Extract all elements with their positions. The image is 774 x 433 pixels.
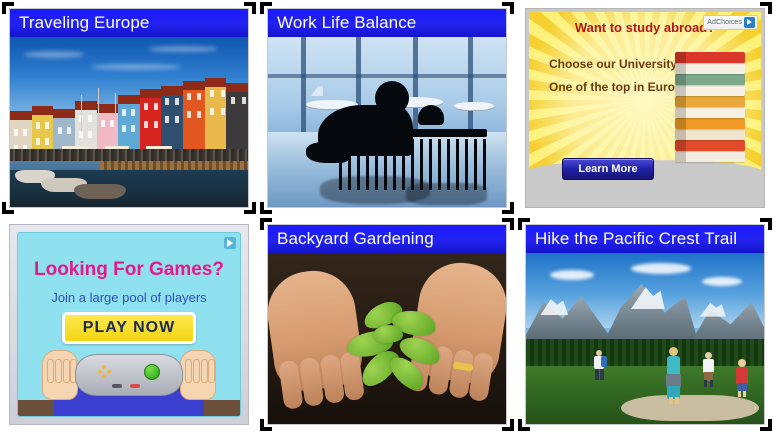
adchoices-triangle-icon: [744, 17, 755, 28]
book-stack-illustration: [675, 50, 745, 162]
adchoices-triangle-icon[interactable]: [224, 237, 236, 249]
left-hand-illustration: [42, 350, 78, 400]
tile-work-life-balance[interactable]: Work Life Balance: [258, 0, 516, 216]
article-title-hike-pacific-crest-trail: Hike the Pacific Crest Trail: [526, 225, 764, 253]
ad-study-abroad[interactable]: Want to study abroad? Choose our Univers…: [525, 8, 765, 208]
hiker-figure: [702, 352, 715, 386]
tile-hike-pacific-crest-trail[interactable]: Hike the Pacific Crest Trail: [516, 216, 774, 433]
game-controller-icon: [75, 354, 183, 396]
ad-subhead-games: Join a large pool of players: [18, 290, 240, 305]
play-now-button[interactable]: PLAY NOW: [62, 312, 196, 344]
article-image-hike-pacific-crest-trail: [526, 253, 764, 424]
ad-line-2: One of the top in Europe!: [549, 80, 693, 94]
tile-study-abroad-ad[interactable]: Want to study abroad? Choose our Univers…: [516, 0, 774, 216]
adchoices-label: AdChoices: [707, 19, 742, 26]
learn-more-button[interactable]: Learn More: [562, 158, 654, 180]
hiker-figure: [735, 359, 749, 397]
tile-backyard-gardening[interactable]: Backyard Gardening: [258, 216, 516, 433]
article-title-backyard-gardening: Backyard Gardening: [268, 225, 506, 253]
article-title-traveling-europe: Traveling Europe: [10, 9, 248, 37]
hiker-figure: [593, 350, 605, 380]
article-image-backyard-gardening: [268, 253, 506, 424]
ad-line-1: Choose our University!: [549, 57, 681, 71]
tile-grid: Traveling Europe: [0, 0, 774, 433]
article-card-hike-pacific-crest-trail[interactable]: Hike the Pacific Crest Trail: [525, 224, 765, 425]
article-image-work-life-balance: [268, 37, 506, 207]
ad-headline-games: Looking For Games?: [18, 259, 240, 281]
article-title-work-life-balance: Work Life Balance: [268, 9, 506, 37]
article-card-work-life-balance[interactable]: Work Life Balance: [267, 8, 507, 208]
article-card-traveling-europe[interactable]: Traveling Europe: [9, 8, 249, 208]
article-image-traveling-europe: [10, 37, 248, 207]
tile-looking-for-games-ad[interactable]: Looking For Games? Join a large pool of …: [0, 216, 258, 433]
hiker-figure: [664, 347, 682, 403]
ad-looking-for-games[interactable]: Looking For Games? Join a large pool of …: [9, 224, 249, 425]
tile-traveling-europe[interactable]: Traveling Europe: [0, 0, 258, 216]
adchoices-badge[interactable]: AdChoices: [703, 15, 758, 30]
article-card-backyard-gardening[interactable]: Backyard Gardening: [267, 224, 507, 425]
right-hand-illustration: [180, 350, 216, 400]
